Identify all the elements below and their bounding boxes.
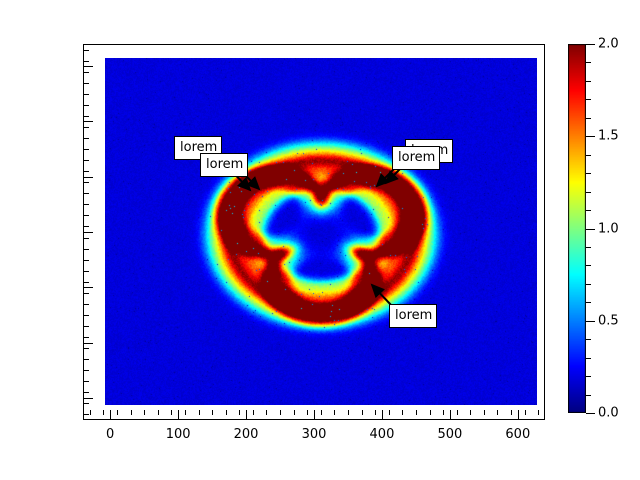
y-tick-major [84, 287, 93, 288]
x-tick-minor [185, 410, 186, 415]
x-tick-minor [497, 410, 498, 415]
y-tick-minor [84, 215, 89, 216]
y-tick-minor [84, 94, 89, 95]
x-tick-major [450, 410, 451, 419]
colorbar-tick-minor [586, 99, 591, 100]
y-tick-minor [84, 315, 89, 316]
colorbar-tick-minor [586, 284, 591, 285]
x-tick-minor [334, 410, 335, 415]
colorbar-tick-minor [586, 118, 591, 119]
x-tick-label: 100 [166, 427, 191, 442]
x-tick-major [110, 410, 111, 419]
x-tick-major [178, 410, 179, 419]
colorbar-tick-minor [586, 81, 591, 82]
x-tick-major [518, 410, 519, 419]
colorbar-tick-minor [586, 192, 591, 193]
y-tick-major [84, 177, 93, 178]
y-tick-minor [84, 204, 89, 205]
x-tick-minor [144, 410, 145, 415]
x-tick-minor [375, 410, 376, 415]
x-tick-minor [457, 410, 458, 415]
y-tick-minor [84, 293, 89, 294]
x-tick-minor [389, 410, 390, 415]
y-tick-minor [84, 50, 89, 51]
colorbar-tick-minor [586, 62, 591, 63]
colorbar-tick-minor [586, 302, 591, 303]
colorbar-tick-minor [586, 376, 591, 377]
y-tick-minor [84, 149, 89, 150]
x-tick-minor [402, 410, 403, 415]
colorbar-tick-minor [586, 265, 591, 266]
colorbar-tick-label: 0.5 [598, 313, 619, 328]
colorbar-tick-minor [586, 229, 591, 230]
colorbar-tick-minor [586, 210, 591, 211]
colorbar [568, 44, 586, 413]
colorbar-tick-label: 1.0 [598, 221, 619, 236]
x-tick-minor [294, 410, 295, 415]
colorbar-tick-label: 0.0 [598, 406, 619, 421]
colorbar-gradient [568, 44, 586, 413]
x-tick-minor [416, 410, 417, 415]
x-tick-minor [90, 410, 91, 415]
x-tick-minor [103, 410, 104, 415]
y-tick-minor [84, 182, 89, 183]
y-tick-major [84, 398, 93, 399]
x-tick-minor [253, 410, 254, 415]
y-tick-minor [84, 127, 89, 128]
figure-canvas: 01002003004005006000100200300400500600 0… [0, 0, 640, 480]
x-tick-major [246, 410, 247, 419]
colorbar-tick-major [586, 413, 595, 414]
colorbar-tick-label: 1.5 [598, 129, 619, 144]
y-tick-minor [84, 304, 89, 305]
x-tick-label: 400 [370, 427, 395, 442]
colorbar-tick-minor [586, 173, 591, 174]
y-tick-minor [84, 83, 89, 84]
y-tick-major [84, 343, 93, 344]
x-tick-minor [131, 410, 132, 415]
annotation-bottom-label: lorem [395, 308, 432, 323]
colorbar-tick-minor [586, 358, 591, 359]
y-tick-minor [84, 414, 89, 415]
x-tick-label: 600 [505, 427, 530, 442]
x-tick-minor [266, 410, 267, 415]
x-tick-label: 0 [106, 427, 114, 442]
x-tick-minor [443, 410, 444, 415]
x-tick-minor [348, 410, 349, 415]
y-tick-minor [84, 193, 89, 194]
y-tick-minor [84, 249, 89, 250]
x-tick-minor [484, 410, 485, 415]
y-tick-minor [84, 138, 89, 139]
x-tick-minor [538, 410, 539, 415]
x-tick-major [382, 410, 383, 419]
colorbar-tick-label: 2.0 [598, 37, 619, 52]
colorbar-tick-minor [586, 339, 591, 340]
x-tick-label: 500 [437, 427, 462, 442]
colorbar-tick-minor [586, 395, 591, 396]
heatmap-image [105, 58, 537, 405]
x-tick-minor [321, 410, 322, 415]
x-tick-minor [525, 410, 526, 415]
y-tick-minor [84, 359, 89, 360]
colorbar-tick-minor [586, 247, 591, 248]
y-tick-minor [84, 116, 89, 117]
colorbar-tick-major [586, 44, 595, 45]
x-tick-minor [171, 410, 172, 415]
y-tick-minor [84, 381, 89, 382]
x-tick-label: 200 [234, 427, 259, 442]
y-tick-minor [84, 160, 89, 161]
annotation-bottom[interactable]: lorem [389, 304, 437, 328]
y-tick-minor [84, 238, 89, 239]
colorbar-tick-minor [586, 155, 591, 156]
y-tick-major [84, 121, 93, 122]
y-tick-minor [84, 260, 89, 261]
x-tick-minor [212, 410, 213, 415]
x-tick-minor [226, 410, 227, 415]
x-tick-minor [280, 410, 281, 415]
y-tick-major [84, 232, 93, 233]
y-tick-minor [84, 226, 89, 227]
annotation-left-front[interactable]: lorem [200, 153, 248, 177]
y-tick-major [84, 66, 93, 67]
y-tick-minor [84, 61, 89, 62]
y-tick-minor [84, 271, 89, 272]
x-tick-minor [511, 410, 512, 415]
y-tick-minor [84, 392, 89, 393]
y-tick-minor [84, 72, 89, 73]
y-tick-minor [84, 370, 89, 371]
x-tick-minor [158, 410, 159, 415]
x-tick-major [314, 410, 315, 419]
x-tick-minor [199, 410, 200, 415]
annotation-right-front[interactable]: lorem [392, 146, 440, 170]
y-tick-minor [84, 326, 89, 327]
x-tick-minor [307, 410, 308, 415]
y-tick-minor [84, 403, 89, 404]
y-tick-minor [84, 105, 89, 106]
y-tick-minor [84, 171, 89, 172]
y-tick-minor [84, 337, 89, 338]
x-tick-label: 300 [302, 427, 327, 442]
x-tick-minor [430, 410, 431, 415]
annotation-right-front-label: lorem [398, 150, 435, 165]
colorbar-tick-major [586, 321, 595, 322]
x-tick-minor [239, 410, 240, 415]
colorbar-tick-major [586, 136, 595, 137]
y-tick-minor [84, 282, 89, 283]
annotation-left-front-label: lorem [206, 157, 243, 172]
y-tick-minor [84, 348, 89, 349]
x-tick-minor [362, 410, 363, 415]
x-tick-minor [117, 410, 118, 415]
x-tick-minor [470, 410, 471, 415]
